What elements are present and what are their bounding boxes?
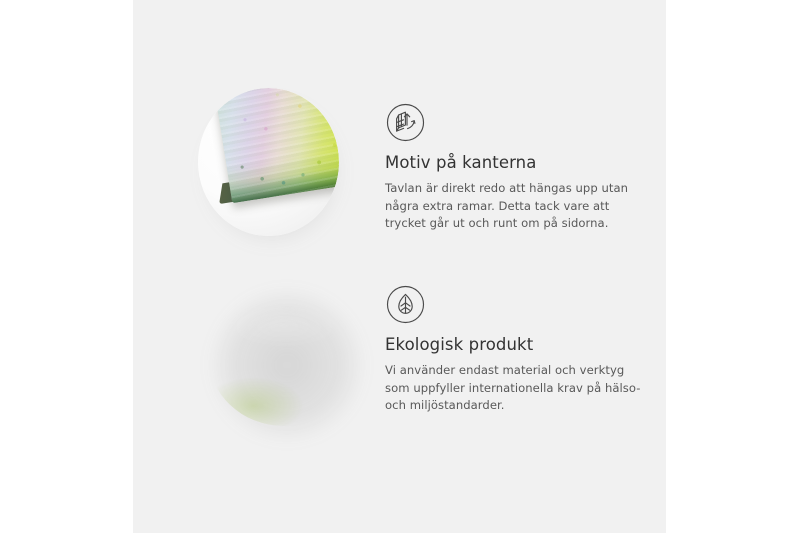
feature-text-block: Ekologisk produkt Vi använder endast mat…	[385, 284, 655, 415]
feature-row-ekologisk-produkt: Ekologisk produkt Vi använder endast mat…	[133, 272, 666, 447]
eco-photo-surface	[208, 283, 359, 426]
product-feature-infographic: Motiv på kanterna Tavlan är direkt redo …	[0, 0, 800, 533]
leaf-icon	[385, 284, 426, 325]
feature-title: Motiv på kanterna	[385, 154, 655, 173]
feature-description: Tavlan är direkt redo att hängas upp uta…	[385, 180, 647, 233]
hands-holding-wood-chips-photo	[208, 283, 359, 426]
feature-text-block: Motiv på kanterna Tavlan är direkt redo …	[385, 102, 655, 233]
feature-title: Ekologisk produkt	[385, 336, 655, 355]
canvas-print-corner-photo	[198, 88, 339, 236]
canvas-wrapped-edges-icon	[385, 102, 426, 143]
feature-description: Vi använder endast material och verktyg …	[385, 362, 647, 415]
feature-row-motiv-pa-kanterna: Motiv på kanterna Tavlan är direkt redo …	[133, 80, 666, 255]
canvas-printed-face	[213, 88, 339, 203]
content-panel: Motiv på kanterna Tavlan är direkt redo …	[133, 0, 666, 533]
canvas-print-clip	[198, 88, 339, 236]
